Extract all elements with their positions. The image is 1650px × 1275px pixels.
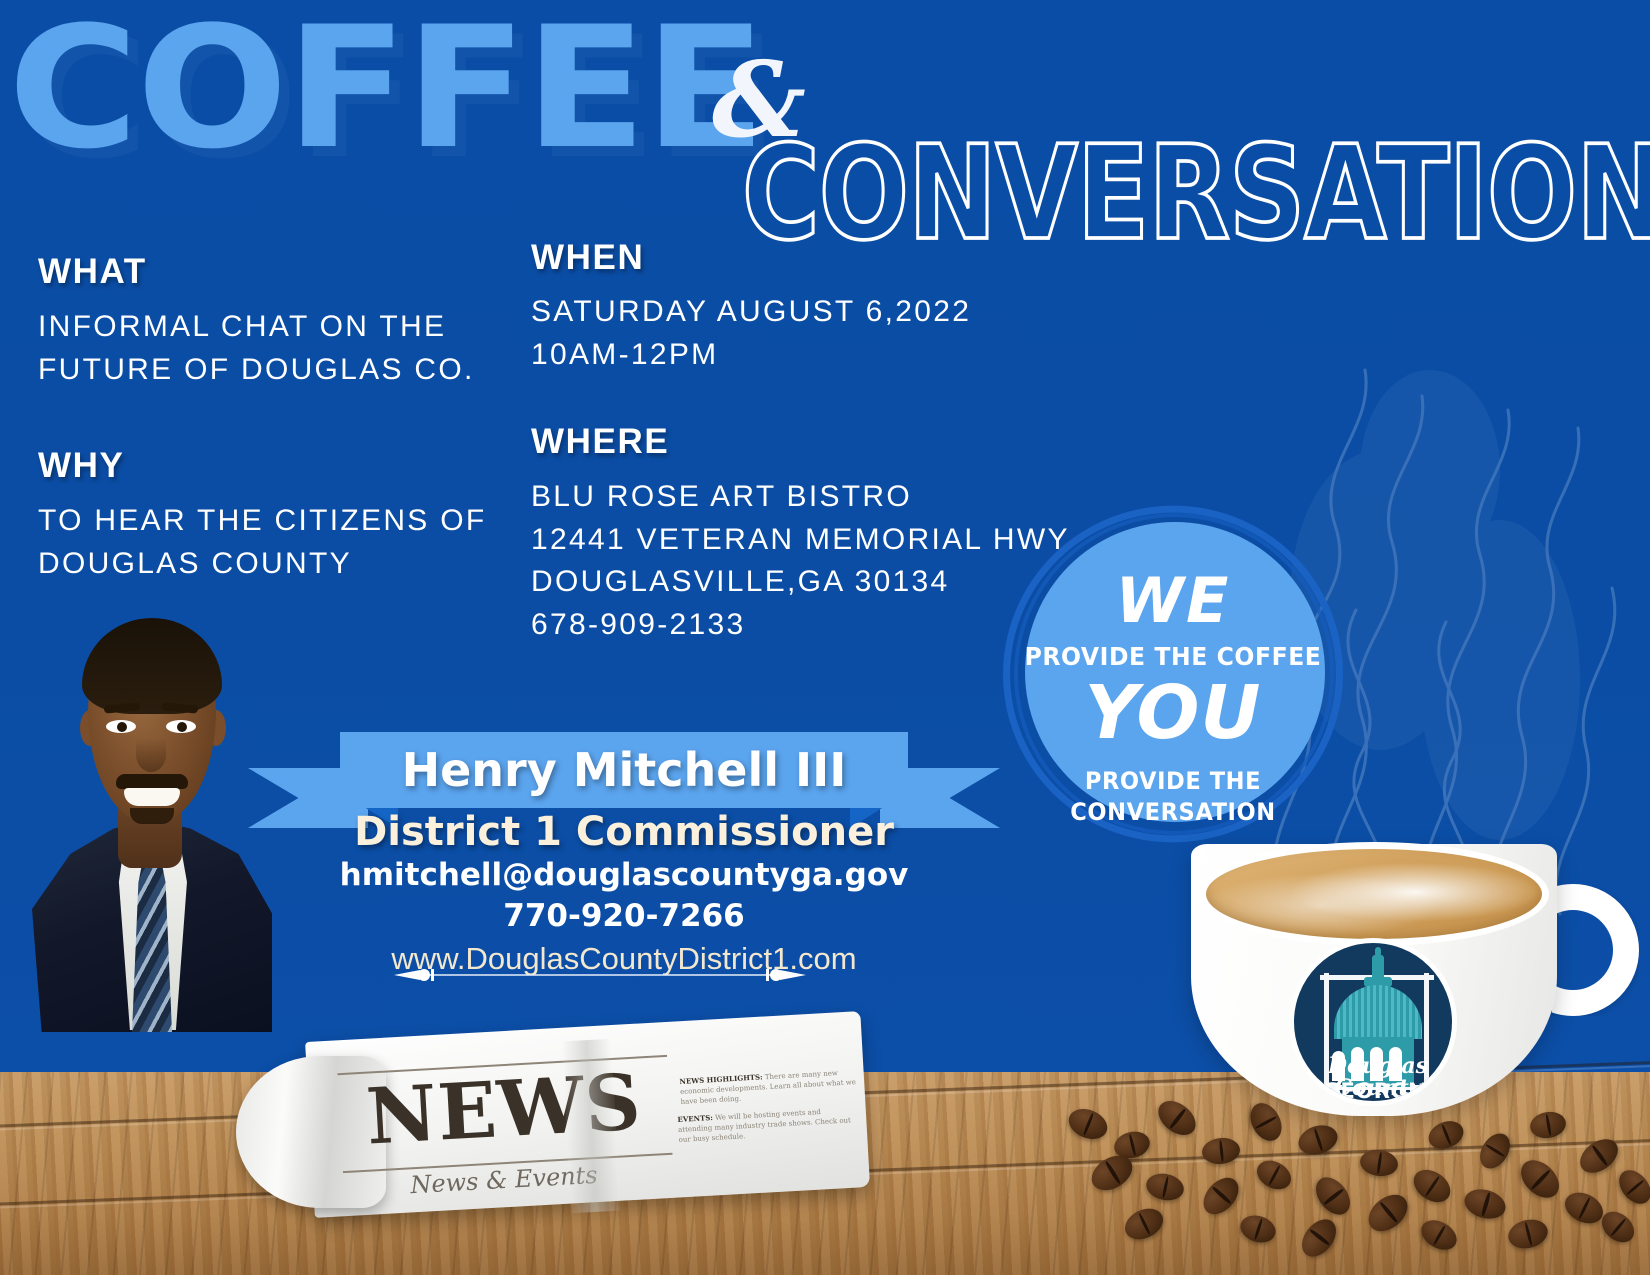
coffee-cup: Douglas County GEORGIA: [1165, 832, 1635, 1132]
why-label: WHY: [38, 446, 124, 486]
flyer-canvas: COFFEE & CONVERSATION WHAT INFORMAL CHAT…: [0, 0, 1650, 1275]
headshot-goatee: [130, 808, 174, 824]
commissioner-role: District 1 Commissioner: [248, 810, 1000, 855]
newspaper-title: NEWS: [342, 1063, 666, 1158]
where-label: WHERE: [531, 422, 669, 462]
courthouse-cupola: [1372, 955, 1384, 979]
newspaper: NEWS News & Events NEWS HIGHLIGHTS: Ther…: [236, 1028, 866, 1228]
commissioner-headshot: [20, 592, 280, 1032]
newspaper-band: [561, 1039, 621, 1214]
what-label: WHAT: [38, 252, 147, 292]
badge-line2: PROVIDE THE CONVERSATION: [1013, 766, 1333, 828]
divider-rule: [394, 968, 806, 982]
why-body: TO HEAR THE CITIZENS OF DOUGLAS COUNTY: [38, 500, 487, 585]
headshot-nose: [136, 738, 166, 772]
headshot-eye-left: [106, 720, 136, 733]
headshot-moustache: [116, 774, 188, 789]
when-label: WHEN: [531, 238, 644, 278]
commissioner-name: Henry Mitchell III: [340, 736, 908, 804]
when-body: SATURDAY AUGUST 6,2022 10AM-12PM: [531, 291, 971, 376]
title-coffee: COFFEE: [8, 4, 764, 172]
commissioner-phone[interactable]: 770-920-7266: [248, 896, 1000, 937]
headshot-smile: [124, 788, 180, 806]
we-provide-badge: WE PROVIDE THE COFFEE YOU PROVIDE THE CO…: [1003, 504, 1343, 844]
cup-rim: [1199, 842, 1549, 946]
headshot-eye-right: [166, 720, 196, 733]
headshot-hair: [82, 618, 222, 714]
logo-state-name: GEORGIA: [1294, 1081, 1457, 1102]
what-body: INFORMAL CHAT ON THE FUTURE OF DOUGLAS C…: [38, 306, 475, 391]
title-conversation: CONVERSATION: [742, 128, 1650, 258]
badge-you: YOU: [1003, 676, 1343, 750]
newspaper-col2-heading: EVENTS:: [677, 1113, 713, 1124]
where-body: BLU ROSE ART BISTRO 12441 VETERAN MEMORI…: [531, 476, 1070, 646]
contact-block: District 1 Commissioner hmitchell@dougla…: [248, 810, 1000, 981]
douglas-county-logo: Douglas County GEORGIA: [1289, 938, 1457, 1106]
badge-we: WE: [1003, 570, 1343, 632]
badge-line1: PROVIDE THE COFFEE: [1013, 644, 1333, 669]
courthouse-dome: [1334, 985, 1422, 1039]
commissioner-email[interactable]: hmitchell@douglascountyga.gov: [248, 855, 1000, 896]
